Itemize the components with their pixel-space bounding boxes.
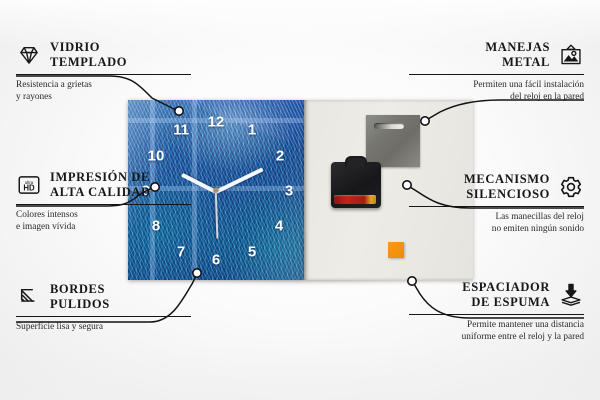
feature-description: Colores intensos e imagen vívida [16,209,191,234]
feature-impresion-alta-calidad[interactable]: ultra HD IMPRESIÓN DE ALTA CALIDAD Color… [16,170,191,234]
feature-title-line1: MECANISMO [464,172,550,187]
infographic-canvas: 12 1 2 3 4 5 6 7 8 9 10 11 [0,0,600,400]
feature-title: IMPRESIÓN DE ALTA CALIDAD [50,170,151,200]
clock-numeral: 2 [276,149,284,164]
feature-manejas-metal[interactable]: MANEJAS METAL Permiten una fácil instala… [409,40,584,104]
feature-title: MECANISMO SILENCIOSO [464,172,550,202]
clock-numeral: 5 [248,245,256,260]
feature-heading: BORDES PULIDOS [16,282,191,312]
feature-title: BORDES PULIDOS [50,282,110,312]
picture-frame-icon [558,42,584,68]
feature-heading: VIDRIO TEMPLADO [16,40,191,70]
feature-description: Permite mantener una distancia uniforme … [409,319,584,344]
feature-description: Las manecillas del reloj no emiten ningú… [409,211,584,236]
polished-edges-icon [16,284,42,310]
feature-title: MANEJAS METAL [485,40,550,70]
feature-espaciador-de-espuma[interactable]: ESPACIADOR DE ESPUMA Permite mantener un… [409,280,584,344]
ultra-hd-icon: ultra HD [16,172,42,198]
feature-description: Permiten una fácil instalación del reloj… [409,79,584,104]
feature-bordes-pulidos[interactable]: BORDES PULIDOS Superficie lisa y segura [16,282,191,333]
clock-mechanism-box [331,162,381,208]
foam-spacer-icon [558,282,584,308]
feature-title-line2: SILENCIOSO [464,187,550,202]
feature-title-line2: TEMPLADO [50,55,127,70]
feature-title-line2: PULIDOS [50,297,110,312]
battery [334,195,376,204]
diamond-icon [16,42,42,68]
feature-title-line1: VIDRIO [50,40,127,55]
clock-numeral: 10 [148,149,165,164]
clock-numeral: 4 [275,219,283,234]
feature-divider [409,314,584,315]
feature-heading: ESPACIADOR DE ESPUMA [409,280,584,310]
feature-title: ESPACIADOR DE ESPUMA [462,280,550,310]
clock-numeral: 7 [177,245,185,260]
feature-divider [409,206,584,207]
feature-description: Superficie lisa y segura [16,321,191,334]
feature-description: Resistencia a grietas y rayones [16,79,191,104]
feature-divider [409,74,584,75]
feature-title-line1: ESPACIADOR [462,280,550,295]
clock-numeral: 11 [173,123,189,138]
svg-text:HD: HD [23,183,35,192]
clock-numeral: 6 [212,253,220,268]
gear-icon [558,174,584,200]
clock-numeral: 1 [248,123,256,138]
feature-title-line2: METAL [485,55,550,70]
feature-mecanismo-silencioso[interactable]: MECANISMO SILENCIOSO Las manecillas del … [409,172,584,236]
feature-divider [16,316,191,317]
feature-vidrio-templado[interactable]: VIDRIO TEMPLADO Resistencia a grietas y … [16,40,191,104]
feature-divider [16,204,191,205]
feature-title-line2: ALTA CALIDAD [50,185,151,200]
clock-numeral: 3 [285,184,293,199]
metal-hanger-plate [366,115,420,167]
feature-divider [16,74,191,75]
feature-title: VIDRIO TEMPLADO [50,40,127,70]
feature-heading: MECANISMO SILENCIOSO [409,172,584,202]
clock-center-pin [214,188,219,193]
feature-heading: MANEJAS METAL [409,40,584,70]
feature-title-line1: BORDES [50,282,110,297]
feature-title-line1: MANEJAS [485,40,550,55]
feature-heading: ultra HD IMPRESIÓN DE ALTA CALIDAD [16,170,191,200]
feature-title-line2: DE ESPUMA [462,295,550,310]
mechanism-hook [345,156,367,167]
foam-spacer [388,242,404,258]
feature-title-line1: IMPRESIÓN DE [50,170,151,185]
clock-numeral: 12 [208,115,225,130]
